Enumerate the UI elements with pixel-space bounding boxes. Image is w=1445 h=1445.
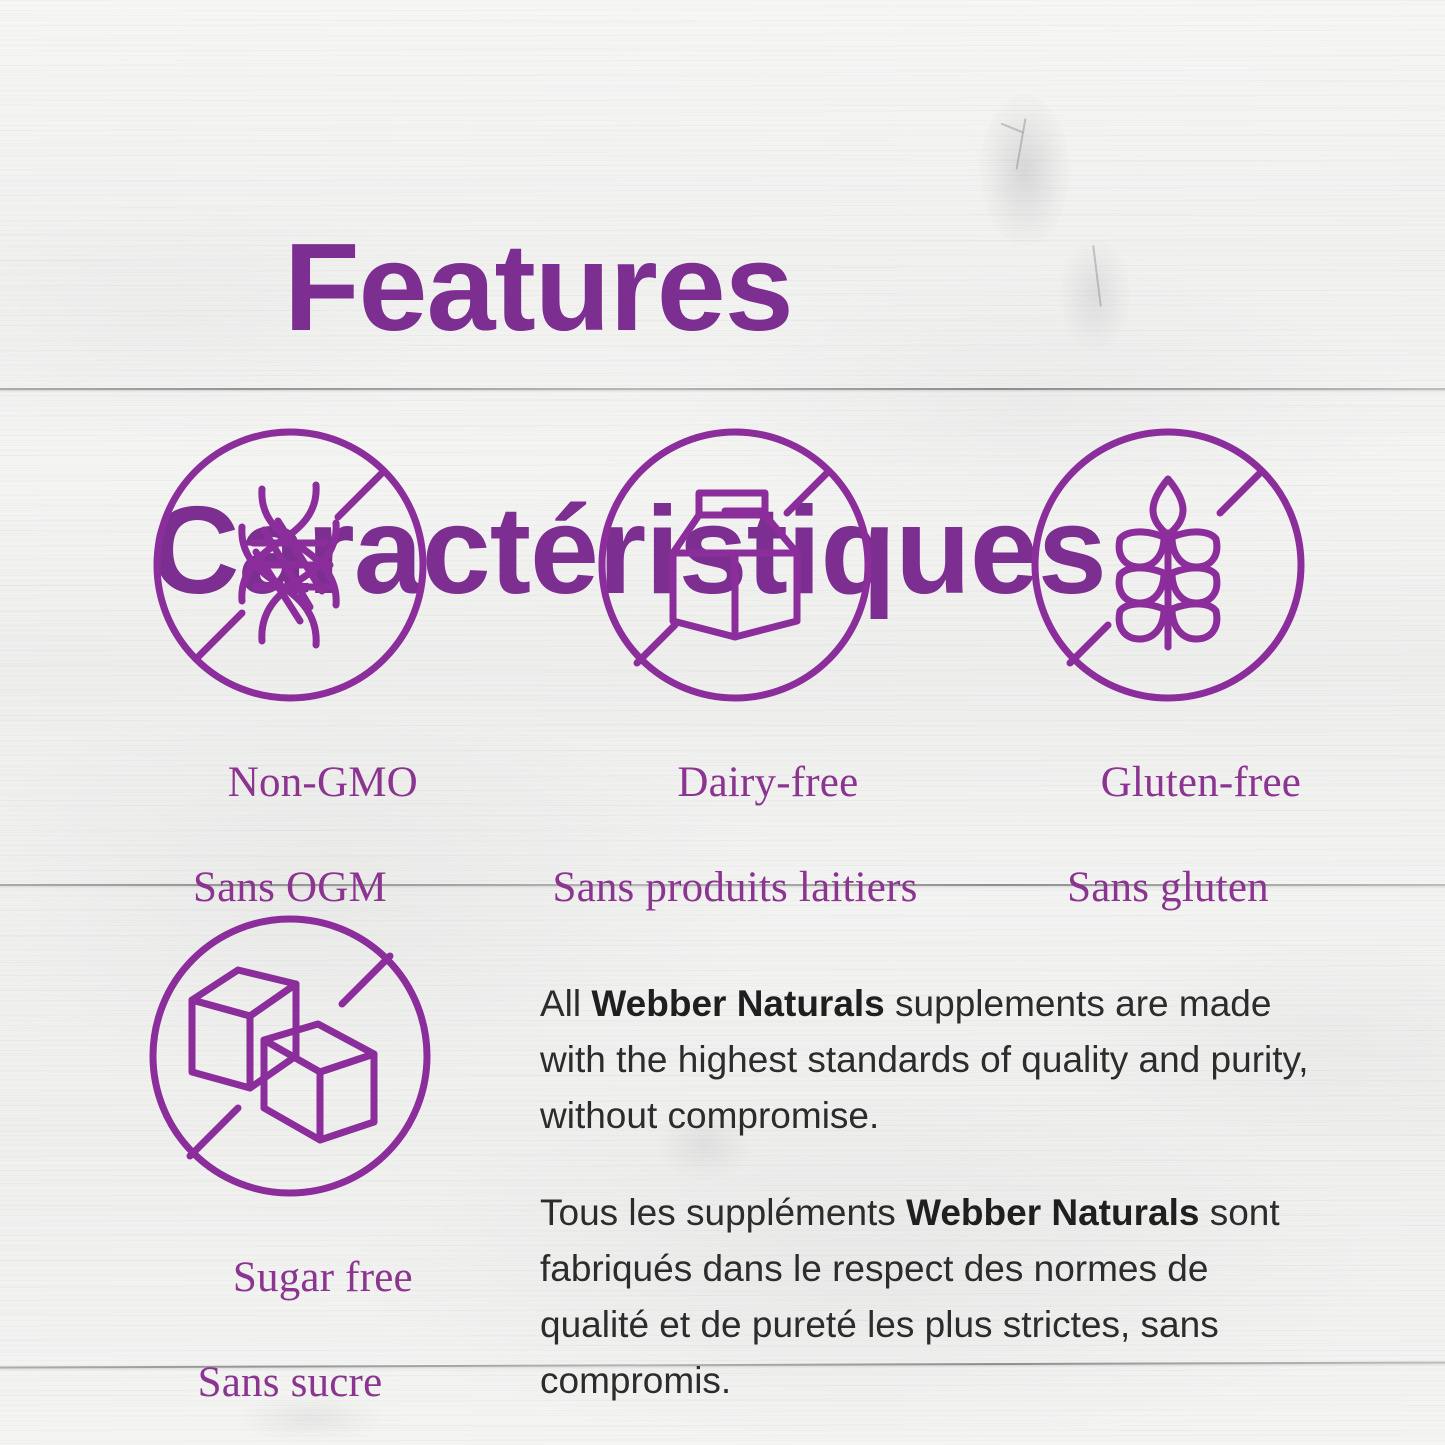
brand-statement: All Webber Naturals supplements are made… <box>540 976 1315 1410</box>
feature-dairy-free-label-en: Dairy-free <box>677 759 858 806</box>
feature-gluten-free-label: Gluten-free Sans gluten <box>988 705 1348 1020</box>
feature-sugar-free-label-en: Sugar free <box>233 1254 413 1301</box>
feature-non-gmo-label-en: Non-GMO <box>228 759 418 806</box>
feature-sugar-free-label-fr: Sans sucre <box>110 1357 470 1409</box>
feature-dairy-free: Dairy-free Sans produits laitiers <box>500 425 970 1020</box>
feature-gluten-free-label-fr: Sans gluten <box>988 862 1348 914</box>
feature-gluten-free: Gluten-free Sans gluten <box>988 425 1348 1020</box>
feature-dairy-free-label: Dairy-free Sans produits laitiers <box>500 705 970 1020</box>
feature-sugar-free: Sugar free Sans sucre <box>110 912 470 1445</box>
no-gmo-dna-icon <box>150 425 430 705</box>
feature-gluten-free-label-en: Gluten-free <box>1101 759 1301 806</box>
brand-statement-en: All Webber Naturals supplements are made… <box>540 976 1315 1145</box>
brand-statement-en-before: All <box>540 983 591 1024</box>
feature-dairy-free-label-fr: Sans produits laitiers <box>500 862 970 914</box>
no-sugar-cubes-icon <box>146 912 434 1200</box>
feature-non-gmo-label-fr: Sans OGM <box>110 862 470 914</box>
features-infographic: Features Caractéristiques Non-GMO Sans O… <box>0 0 1445 1445</box>
brand-name-fr: Webber Naturals <box>906 1192 1199 1233</box>
feature-sugar-free-label: Sugar free Sans sucre <box>110 1200 470 1445</box>
brand-statement-fr-before: Tous les suppléments <box>540 1192 906 1233</box>
no-dairy-milk-carton-icon <box>595 425 875 705</box>
brand-name-en: Webber Naturals <box>591 983 884 1024</box>
page-title-en: Features <box>284 219 793 357</box>
no-gluten-wheat-icon <box>1028 425 1308 705</box>
brand-statement-fr: Tous les suppléments Webber Naturals son… <box>540 1185 1315 1410</box>
